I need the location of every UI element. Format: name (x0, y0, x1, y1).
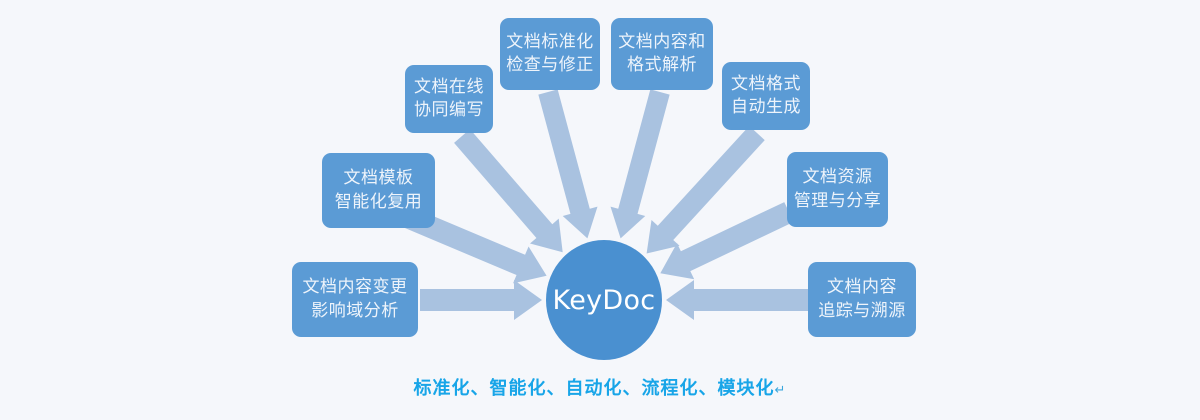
node-box-doc-content-format-parsing[interactable]: 文档内容和格式解析 (611, 18, 713, 90)
diagram-caption: 标准化、智能化、自动化、流程化、模块化↵ (0, 374, 1200, 400)
node-label-line: 文档标准化 (506, 31, 594, 54)
node-label-line: 格式解析 (627, 54, 697, 77)
node-box-doc-change-impact-analysis[interactable]: 文档内容变更影响域分析 (292, 262, 418, 337)
arrow-from-content-tracking (666, 280, 808, 320)
node-label-line: 文档内容变更 (303, 276, 408, 299)
node-box-doc-resource-management-sharing[interactable]: 文档资源管理与分享 (787, 152, 888, 227)
node-box-doc-format-auto-generation[interactable]: 文档格式自动生成 (722, 62, 810, 130)
node-box-doc-online-collaboration[interactable]: 文档在线协同编写 (405, 65, 493, 133)
node-label-line: 管理与分享 (794, 190, 882, 213)
node-label-line: 智能化复用 (335, 191, 423, 214)
node-box-doc-content-tracking-tracing[interactable]: 文档内容追踪与溯源 (808, 262, 916, 337)
node-label-line: 文档格式 (731, 73, 801, 96)
paragraph-mark-icon: ↵ (775, 383, 787, 398)
hub-node: KeyDoc (546, 240, 662, 360)
node-label-line: 协同编写 (414, 99, 484, 122)
node-label-line: 检查与修正 (506, 54, 594, 77)
node-label-line: 自动生成 (731, 96, 801, 119)
node-label-line: 文档内容 (827, 276, 897, 299)
node-box-doc-standardization-check[interactable]: 文档标准化检查与修正 (500, 18, 600, 90)
hub-label: KeyDoc (553, 285, 656, 316)
caption-text: 标准化、智能化、自动化、流程化、模块化 (414, 378, 775, 399)
node-box-doc-template-smart-reuse[interactable]: 文档模板智能化复用 (322, 153, 435, 228)
arrow-from-change-impact-analysis (420, 280, 542, 320)
node-label-line: 影响域分析 (311, 300, 399, 323)
diagram-canvas: KeyDoc 文档标准化检查与修正文档内容和格式解析文档在线协同编写文档格式自动… (0, 0, 1200, 420)
node-label-line: 文档在线 (414, 76, 484, 99)
node-label-line: 文档模板 (344, 167, 414, 190)
node-label-line: 追踪与溯源 (818, 300, 906, 323)
node-label-line: 文档内容和 (618, 31, 706, 54)
node-label-line: 文档资源 (803, 166, 873, 189)
